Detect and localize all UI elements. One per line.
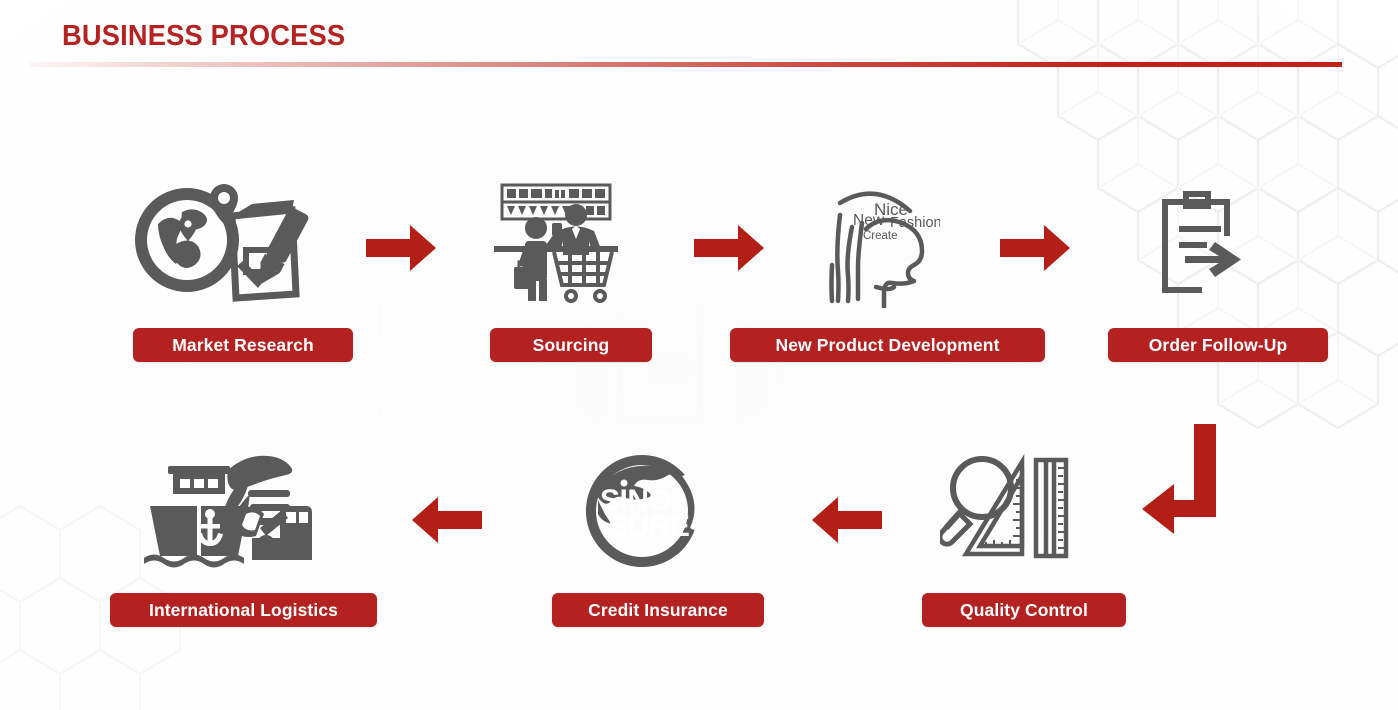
step-sourcing[interactable] xyxy=(488,183,624,308)
step-order-follow-up[interactable] xyxy=(1155,190,1255,302)
badge-new-product-development[interactable]: New Product Development xyxy=(730,328,1045,362)
svg-text:Fashion: Fashion xyxy=(890,215,940,231)
clipboard-arrow-icon xyxy=(1155,190,1255,302)
step-credit-insurance[interactable]: SINO SURE xyxy=(578,450,706,572)
step-market-research[interactable] xyxy=(132,178,332,308)
step-international-logistics[interactable] xyxy=(140,448,320,574)
ship-plane-truck-icon xyxy=(140,448,320,574)
step-quality-control[interactable] xyxy=(940,450,1080,570)
shop-counter-cart-icon xyxy=(488,183,624,308)
arrow-sourcing-to-new-product-development xyxy=(694,225,764,271)
title-underline-rule xyxy=(30,62,1342,67)
badge-international-logistics[interactable]: International Logistics xyxy=(110,593,377,627)
arrow-credit-insurance-to-international-logistics xyxy=(412,497,482,543)
badge-credit-insurance[interactable]: Credit Insurance xyxy=(552,593,764,627)
page-title: BUSINESS PROCESS xyxy=(62,20,345,53)
arrow-market-research-to-sourcing xyxy=(366,225,436,271)
arrow-new-product-development-to-order-follow-up xyxy=(1000,225,1070,271)
magnifier-ruler-icon xyxy=(940,450,1080,570)
step-new-product-development[interactable]: New Nice Fashion Create xyxy=(810,183,940,308)
badge-quality-control[interactable]: Quality Control xyxy=(922,593,1126,627)
arrow-order-follow-up-to-quality-control-elbow xyxy=(1140,424,1220,534)
badge-order-follow-up[interactable]: Order Follow-Up xyxy=(1108,328,1328,362)
badge-sourcing[interactable]: Sourcing xyxy=(490,328,652,362)
badge-market-research[interactable]: Market Research xyxy=(133,328,353,362)
sinosure-globe-icon: SINO SURE xyxy=(578,450,706,572)
svg-text:SURE: SURE xyxy=(608,510,689,543)
svg-text:Create: Create xyxy=(863,230,898,242)
arrow-quality-control-to-credit-insurance xyxy=(812,497,882,543)
globe-pin-clipboard-icon xyxy=(132,178,332,308)
head-ideas-icon: New Nice Fashion Create xyxy=(810,183,940,308)
business-process-slide: BUSINESS PROCESS xyxy=(0,0,1398,710)
